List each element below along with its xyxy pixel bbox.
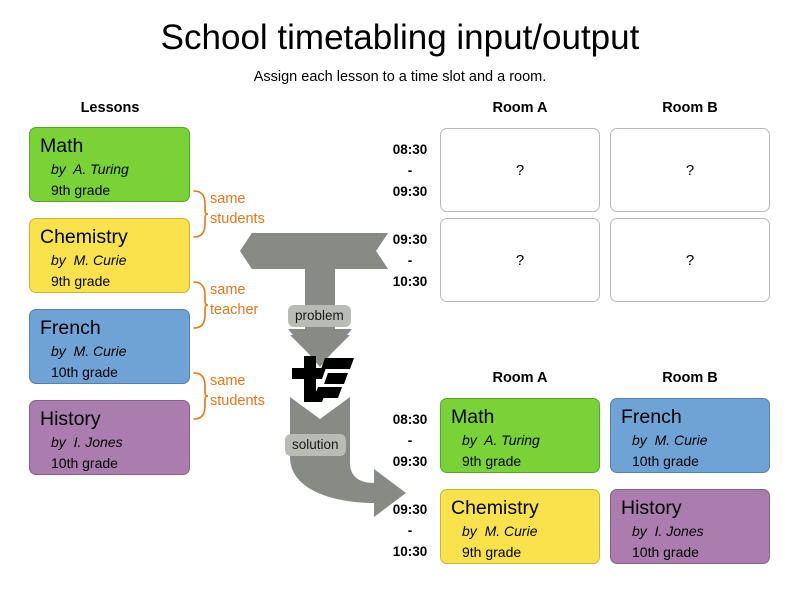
lesson-teacher: by M. Curie [40,250,189,271]
lesson-grade: 10th grade [40,362,189,383]
lesson-teacher: by M. Curie [40,341,189,362]
by-word: by [462,523,477,539]
lesson-grade: 9th grade [40,271,189,292]
page-title: School timetabling input/output [0,17,800,59]
teacher-name: M. Curie [485,523,538,539]
by-word: by [462,432,477,448]
output-slot-room-a-0830[interactable]: Math by A. Turing 9th grade [440,398,600,473]
lesson-teacher: by A. Turing [40,159,189,180]
time-end: 09:30 [393,184,428,199]
teacher-name: I. Jones [74,434,123,450]
lesson-grade: 10th grade [621,542,769,563]
lesson-card-history: History by I. Jones 10th grade [29,400,190,475]
input-slot-room-b-0930[interactable]: ? [610,218,770,302]
by-word: by [51,434,66,450]
lesson-grade: 9th grade [451,451,599,472]
output-slot-room-b-0930[interactable]: History by I. Jones 10th grade [610,489,770,564]
teacher-name: M. Curie [655,432,708,448]
lesson-teacher: by I. Jones [40,432,189,453]
solution-badge: solution [285,434,346,456]
annotation-label: same students [210,189,265,229]
teacher-name: A. Turing [484,432,540,448]
unassigned-marker: ? [516,162,524,179]
page-subtitle: Assign each lesson to a time slot and a … [0,68,800,86]
lesson-grade: 10th grade [40,453,189,474]
time-dash: - [379,160,441,181]
input-time-slot-1: 08:30 - 09:30 [379,139,441,202]
by-word: by [51,252,66,268]
input-slot-room-a-0830[interactable]: ? [440,128,600,212]
time-start: 09:30 [393,502,428,517]
time-dash: - [379,250,441,271]
teacher-name: M. Curie [74,343,127,359]
lesson-subject: History [40,407,189,432]
input-room-b-heading: Room B [610,99,770,117]
lesson-subject: History [621,496,769,521]
lesson-grade: 9th grade [451,542,599,563]
time-start: 08:30 [393,142,428,157]
output-time-slot-2: 09:30 - 10:30 [379,499,441,562]
output-room-a-heading: Room A [440,369,600,387]
lesson-subject: Chemistry [40,225,189,250]
by-word: by [632,432,647,448]
output-room-b-heading: Room B [610,369,770,387]
lesson-teacher: by I. Jones [621,521,769,542]
lesson-subject: Chemistry [451,496,599,521]
time-dash: - [379,520,441,541]
lesson-teacher: by M. Curie [621,430,769,451]
time-end: 09:30 [393,454,428,469]
unassigned-marker: ? [686,252,694,269]
by-word: by [51,343,66,359]
output-slot-room-b-0830[interactable]: French by M. Curie 10th grade [610,398,770,473]
time-start: 09:30 [393,232,428,247]
lesson-subject: Math [40,134,189,159]
unassigned-marker: ? [686,162,694,179]
input-slot-room-a-0930[interactable]: ? [440,218,600,302]
by-word: by [51,161,66,177]
lesson-subject: French [40,316,189,341]
annotation-line-1: same [210,189,265,209]
lesson-teacher: by M. Curie [451,521,599,542]
input-time-slot-2: 09:30 - 10:30 [379,229,441,292]
lesson-card-french: French by M. Curie 10th grade [29,309,190,384]
by-word: by [632,523,647,539]
lesson-subject: Math [451,405,599,430]
lesson-card-chemistry: Chemistry by M. Curie 9th grade [29,218,190,293]
lesson-teacher: by A. Turing [451,430,599,451]
lesson-card-math: Math by A. Turing 9th grade [29,127,190,202]
lesson-grade: 10th grade [621,451,769,472]
lesson-subject: French [621,405,769,430]
teacher-name: M. Curie [74,252,127,268]
teacher-name: I. Jones [655,523,704,539]
lessons-heading: Lessons [30,99,190,117]
diagram-canvas: School timetabling input/output Assign e… [0,0,800,600]
time-dash: - [379,430,441,451]
input-slot-room-b-0830[interactable]: ? [610,128,770,212]
teacher-name: A. Turing [73,161,129,177]
time-start: 08:30 [393,412,428,427]
output-time-slot-1: 08:30 - 09:30 [379,409,441,472]
time-end: 10:30 [393,274,428,289]
problem-badge: problem [288,305,351,327]
lesson-grade: 9th grade [40,180,189,201]
unassigned-marker: ? [516,252,524,269]
time-end: 10:30 [393,544,428,559]
output-slot-room-a-0930[interactable]: Chemistry by M. Curie 9th grade [440,489,600,564]
input-room-a-heading: Room A [440,99,600,117]
timefold-logo-icon [292,356,354,402]
